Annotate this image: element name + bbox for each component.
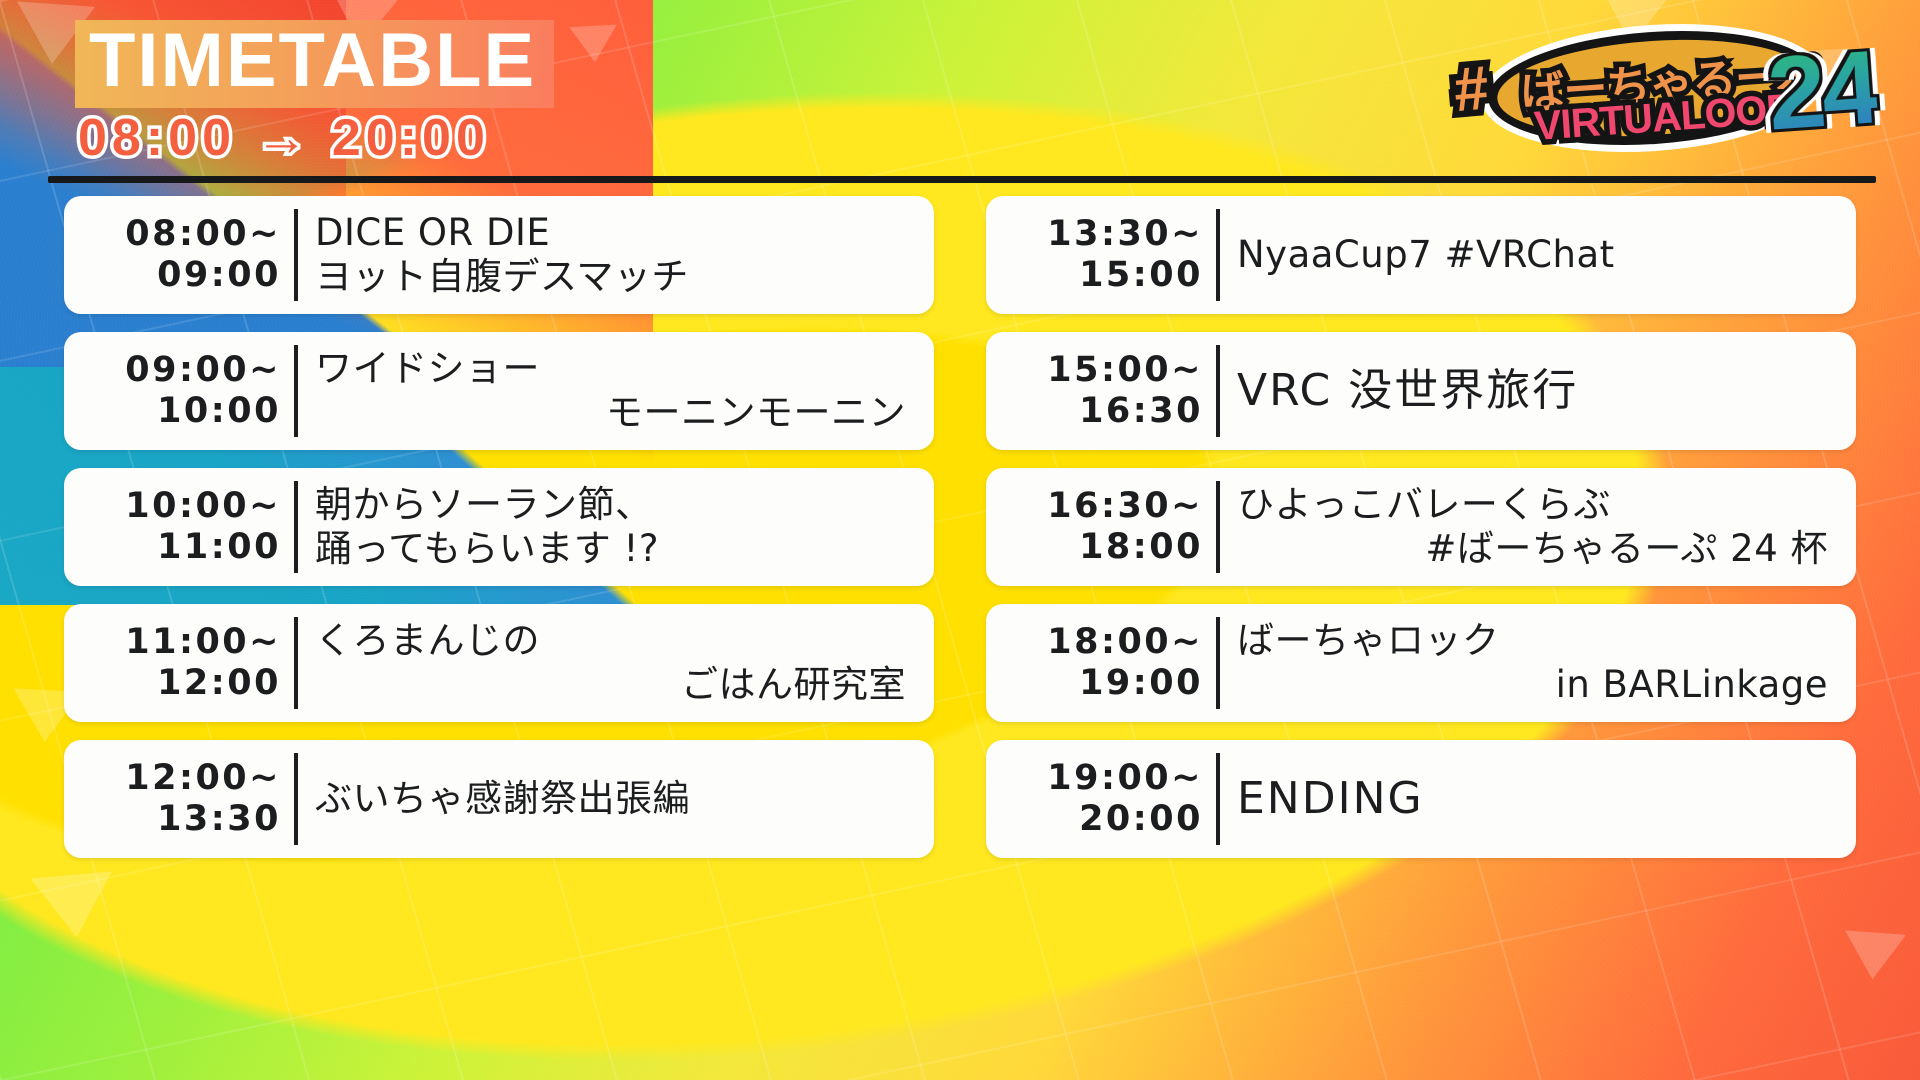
row-end-time: 11:00 — [157, 527, 281, 568]
row-title-line: ヨット自腹デスマッチ — [315, 255, 922, 299]
row-end-time: 18:00 — [1079, 527, 1203, 568]
row-end-time: 16:30 — [1079, 391, 1203, 432]
timetable-row[interactable]: 09:00~10:00ワイドショーモーニンモーニン — [64, 332, 934, 450]
row-end-time: 09:00 — [157, 255, 281, 296]
event-logo: # ばーちゃるーぷ VIRTUALOOP 24 — [1448, 14, 1872, 164]
page-header: TIMETABLE 08:00 → 20:00 # ばーちゃるーぷ VIRTUA… — [0, 0, 1920, 210]
row-time-block: 13:30~15:00 — [1004, 214, 1216, 297]
logo-hash-symbol: # — [1451, 53, 1489, 126]
row-start-time: 18:00~ — [1047, 622, 1203, 663]
row-start-time: 10:00~ — [125, 486, 281, 527]
row-time-block: 08:00~09:00 — [82, 214, 294, 297]
row-title-line: #ばーちゃるーぷ 24 杯 — [1237, 527, 1844, 571]
row-time-block: 09:00~10:00 — [82, 350, 294, 433]
row-time-block: 19:00~20:00 — [1004, 758, 1216, 841]
row-time-block: 18:00~19:00 — [1004, 622, 1216, 705]
row-start-time: 09:00~ — [125, 350, 281, 391]
row-start-time: 15:00~ — [1047, 350, 1203, 391]
row-start-time: 11:00~ — [125, 622, 281, 663]
timetable-grid: 08:00~09:00DICE OR DIEヨット自腹デスマッチ13:30~15… — [64, 196, 1856, 858]
row-start-time: 19:00~ — [1047, 758, 1203, 799]
row-title-line: モーニンモーニン — [315, 391, 922, 435]
row-title-block: DICE OR DIEヨット自腹デスマッチ — [298, 211, 922, 300]
timetable-row[interactable]: 12:00~13:30ぶいちゃ感謝祭出張編 — [64, 740, 934, 858]
row-title-block: NyaaCup7 #VRChat — [1220, 233, 1844, 277]
row-title-line: くろまんじの — [315, 619, 922, 663]
row-title-line: NyaaCup7 #VRChat — [1237, 233, 1844, 277]
logo-year-badge: 24 — [1764, 28, 1880, 154]
row-start-time: 13:30~ — [1047, 214, 1203, 255]
row-title-line: 踊ってもらいます !? — [315, 527, 922, 571]
time-range-subtitle: 08:00 → 20:00 — [78, 108, 490, 168]
row-title-block: ひよっこバレーくらぶ#ばーちゃるーぷ 24 杯 — [1220, 483, 1844, 572]
row-title-line: in BARLinkage — [1237, 663, 1844, 707]
row-title-block: 朝からソーラン節、踊ってもらいます !? — [298, 483, 922, 572]
timetable-row[interactable]: 19:00~20:00ENDING — [986, 740, 1856, 858]
row-start-time: 08:00~ — [125, 214, 281, 255]
row-end-time: 19:00 — [1079, 663, 1203, 704]
row-time-block: 15:00~16:30 — [1004, 350, 1216, 433]
row-title-line: ばーちゃロック — [1237, 619, 1844, 663]
row-time-block: 16:30~18:00 — [1004, 486, 1216, 569]
header-divider-rule — [48, 176, 1876, 183]
row-title-line: 朝からソーラン節、 — [315, 483, 922, 527]
row-time-block: 12:00~13:30 — [82, 758, 294, 841]
row-title-line: ひよっこバレーくらぶ — [1237, 483, 1844, 527]
row-title-line: ぶいちゃ感謝祭出張編 — [315, 777, 922, 821]
row-title-line: DICE OR DIE — [315, 211, 922, 255]
row-title-block: ばーちゃロックin BARLinkage — [1220, 619, 1844, 708]
timetable-row[interactable]: 16:30~18:00ひよっこバレーくらぶ#ばーちゃるーぷ 24 杯 — [986, 468, 1856, 586]
row-end-time: 12:00 — [157, 663, 281, 704]
timetable-row[interactable]: 18:00~19:00ばーちゃロックin BARLinkage — [986, 604, 1856, 722]
row-title-line: VRC 没世界旅行 — [1237, 365, 1844, 418]
row-end-time: 10:00 — [157, 391, 281, 432]
row-title-block: ぶいちゃ感謝祭出張編 — [298, 777, 922, 821]
timetable-row[interactable]: 13:30~15:00NyaaCup7 #VRChat — [986, 196, 1856, 314]
row-end-time: 13:30 — [157, 799, 281, 840]
row-title-line: ごはん研究室 — [315, 663, 922, 707]
row-title-block: くろまんじのごはん研究室 — [298, 619, 922, 708]
row-end-time: 15:00 — [1079, 255, 1203, 296]
row-title-block: ワイドショーモーニンモーニン — [298, 347, 922, 436]
timetable-row[interactable]: 08:00~09:00DICE OR DIEヨット自腹デスマッチ — [64, 196, 934, 314]
timetable-row[interactable]: 10:00~11:00朝からソーラン節、踊ってもらいます !? — [64, 468, 934, 586]
row-time-block: 11:00~12:00 — [82, 622, 294, 705]
row-title-block: ENDING — [1220, 773, 1844, 826]
logo-text-group: # ばーちゃるーぷ VIRTUALOOP 24 — [1448, 14, 1872, 164]
row-time-block: 10:00~11:00 — [82, 486, 294, 569]
timetable-row[interactable]: 15:00~16:30VRC 没世界旅行 — [986, 332, 1856, 450]
row-end-time: 20:00 — [1079, 799, 1203, 840]
row-title-line: ワイドショー — [315, 347, 922, 391]
row-start-time: 12:00~ — [125, 758, 281, 799]
row-title-block: VRC 没世界旅行 — [1220, 365, 1844, 418]
row-start-time: 16:30~ — [1047, 486, 1203, 527]
page-title: TIMETABLE — [89, 22, 536, 100]
row-title-line: ENDING — [1237, 773, 1844, 826]
timetable-row[interactable]: 11:00~12:00くろまんじのごはん研究室 — [64, 604, 934, 722]
title-band: TIMETABLE — [75, 20, 554, 108]
